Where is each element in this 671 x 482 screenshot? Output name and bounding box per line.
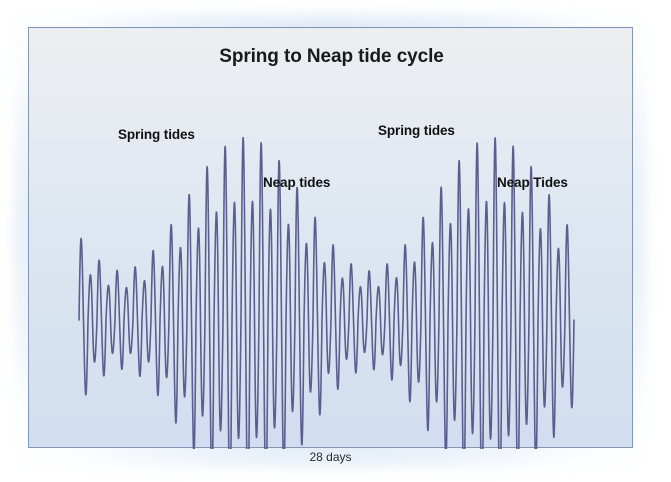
plot-area (29, 28, 634, 449)
x-axis-caption: 28 days (28, 450, 633, 464)
annotation-spring-tides-first: Spring tides (118, 127, 195, 142)
chart-image: Spring to Neap tide cycle Spring tides N… (0, 0, 671, 482)
chart-title: Spring to Neap tide cycle (29, 46, 634, 68)
chart-frame: Spring to Neap tide cycle Spring tides N… (28, 27, 633, 448)
annotation-neap-tides-first: Neap tides (263, 175, 330, 190)
tide-waveform-svg (29, 28, 634, 449)
annotation-neap-tides-second: Neap Tides (497, 175, 568, 190)
annotation-spring-tides-second: Spring tides (378, 123, 455, 138)
